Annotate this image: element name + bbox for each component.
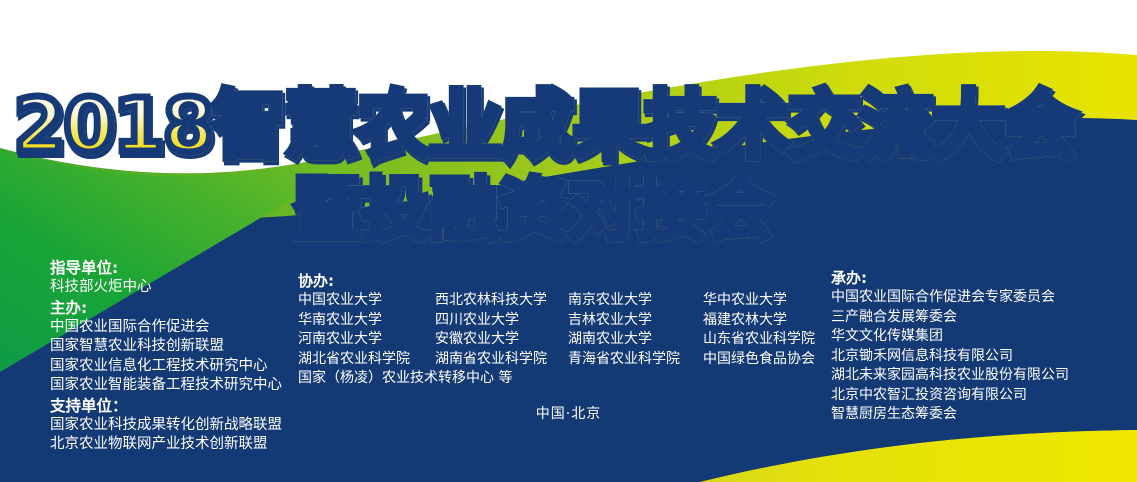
credits-column-middle: 协办: 中国农业大学 西北农林科技大学 南京农业大学 华中农业大学 华南农业大学… (298, 272, 843, 389)
organizer-item: 三产融合发展筹委会 (831, 308, 1069, 328)
coorganizer-item: 华中农业大学 (703, 291, 843, 311)
host-item: 国家智慧农业科技创新联盟 (50, 337, 282, 357)
coorganizer-item: 安徽农业大学 (435, 330, 568, 350)
coorganizer-item: 吉林农业大学 (568, 311, 703, 331)
organizer-item: 湖北未来家园高科技农业股份有限公司 (831, 366, 1069, 386)
guidance-item: 科技部火炬中心 (50, 278, 282, 298)
coorganizer-item: 西北农林科技大学 (435, 291, 568, 311)
event-banner: 2018智慧农业成果技术交流大会 2018智慧农业成果技术交流大会 暨投融资对接… (0, 0, 1137, 482)
host-item: 国家农业信息化工程技术研究中心 (50, 357, 282, 377)
organizer-item: 北京锄禾网信息科技有限公司 (831, 347, 1069, 367)
organizer-item: 中国农业国际合作促进会专家委员会 (831, 288, 1069, 308)
coorganizer-item: 中国绿色食品协会 (703, 350, 843, 370)
coorganizer-item: 华南农业大学 (298, 311, 435, 331)
coorganizer-item: 南京农业大学 (568, 291, 703, 311)
location-text: 中国·北京 (0, 403, 1137, 423)
credits-column-right: 承办: 中国农业国际合作促进会专家委员会 三产融合发展筹委会 华文文化传媒集团 … (831, 268, 1069, 425)
organizer-item: 华文文化传媒集团 (831, 327, 1069, 347)
credits-column-left: 指导单位: 科技部火炬中心 主办: 中国农业国际合作促进会 国家智慧农业科技创新… (50, 258, 282, 455)
coorganizer-item: 河南农业大学 (298, 330, 435, 350)
credits-block: 指导单位: 科技部火炬中心 主办: 中国农业国际合作促进会 国家智慧农业科技创新… (0, 0, 1137, 482)
coorganizer-item: 福建农林大学 (703, 311, 843, 331)
coorganizer-item: 湖南农业大学 (568, 330, 703, 350)
coorganizer-item: 湖北省农业科学院 (298, 350, 435, 370)
organizer-header: 承办: (831, 268, 1069, 288)
coorganizer-item: 湖南省农业科学院 (435, 350, 568, 370)
coorganizer-header: 协办: (298, 272, 843, 291)
coorganizer-item: 四川农业大学 (435, 311, 568, 331)
coorganizer-item: 山东省农业科学院 (703, 330, 843, 350)
coorganizer-grid: 中国农业大学 西北农林科技大学 南京农业大学 华中农业大学 华南农业大学 四川农… (298, 291, 843, 389)
support-item: 北京农业物联网产业技术创新联盟 (50, 435, 282, 455)
coorganizer-item: 中国农业大学 (298, 291, 435, 311)
host-header: 主办: (50, 298, 282, 318)
host-item: 中国农业国际合作促进会 (50, 318, 282, 338)
guidance-header: 指导单位: (50, 258, 282, 278)
coorganizer-item: 青海省农业科学院 (568, 350, 703, 370)
coorganizer-last-line: 国家（杨凌）农业技术转移中心 等 (298, 369, 703, 389)
host-item: 国家农业智能装备工程技术研究中心 (50, 376, 282, 396)
